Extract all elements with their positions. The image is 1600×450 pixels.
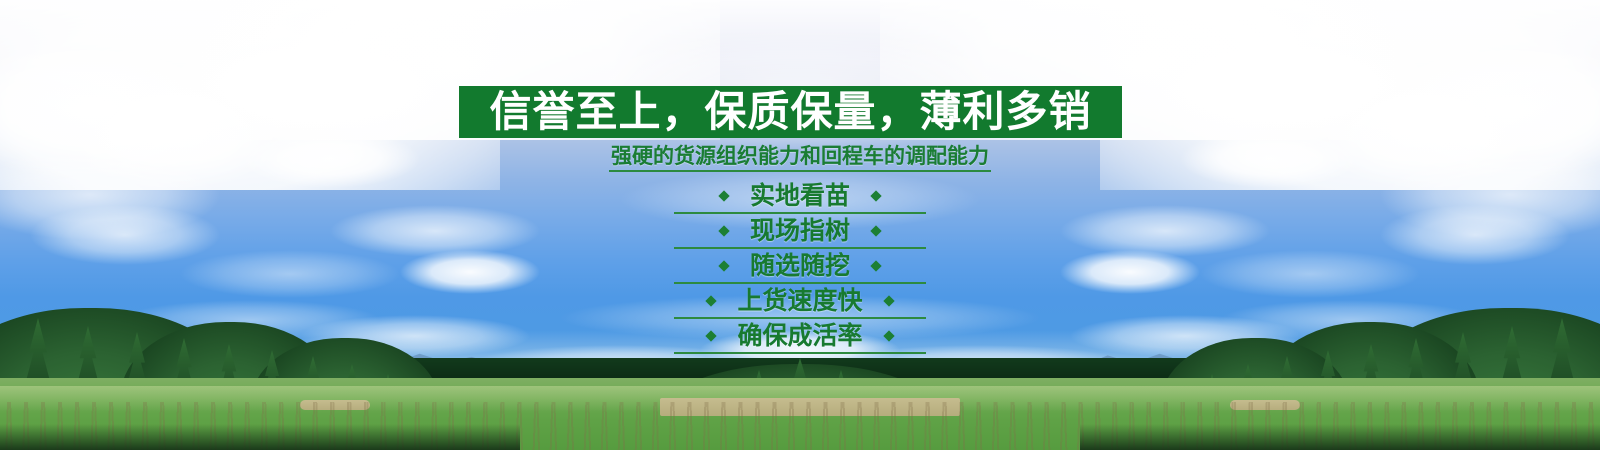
feature-item-5: 确保成活率	[0, 318, 1600, 353]
subtitle-wrap: 强硬的货源组织能力和回程车的调配能力	[0, 144, 1600, 172]
feature-label: 现场指树	[728, 216, 872, 246]
feature-item-4: 上货速度快	[0, 283, 1600, 318]
bullet-dot-icon	[870, 190, 881, 201]
bullet-dot-icon	[883, 330, 894, 341]
banner-content: 信誉至上，保质保量，薄利多销 强硬的货源组织能力和回程车的调配能力 实地看苗 现…	[0, 0, 1600, 450]
bullet-dot-icon	[883, 295, 894, 306]
feature-item-2: 现场指树	[0, 213, 1600, 248]
feature-label: 随选随挖	[728, 251, 872, 281]
banner-subtitle: 强硬的货源组织能力和回程车的调配能力	[609, 144, 991, 172]
title-bar: 信誉至上，保质保量，薄利多销	[459, 86, 1122, 138]
bullet-dot-icon	[870, 260, 881, 271]
feature-label: 实地看苗	[728, 181, 872, 211]
banner-title: 信誉至上，保质保量，薄利多销	[459, 86, 1122, 138]
feature-label: 确保成活率	[715, 321, 884, 351]
feature-separator	[674, 352, 926, 354]
feature-item-3: 随选随挖	[0, 248, 1600, 283]
bullet-dot-icon	[870, 225, 881, 236]
feature-item-1: 实地看苗	[0, 178, 1600, 213]
feature-list: 实地看苗 现场指树 随选随挖 上货速度快	[0, 178, 1600, 353]
promo-banner: 信誉至上，保质保量，薄利多销 强硬的货源组织能力和回程车的调配能力 实地看苗 现…	[0, 0, 1600, 450]
feature-label: 上货速度快	[715, 286, 884, 316]
